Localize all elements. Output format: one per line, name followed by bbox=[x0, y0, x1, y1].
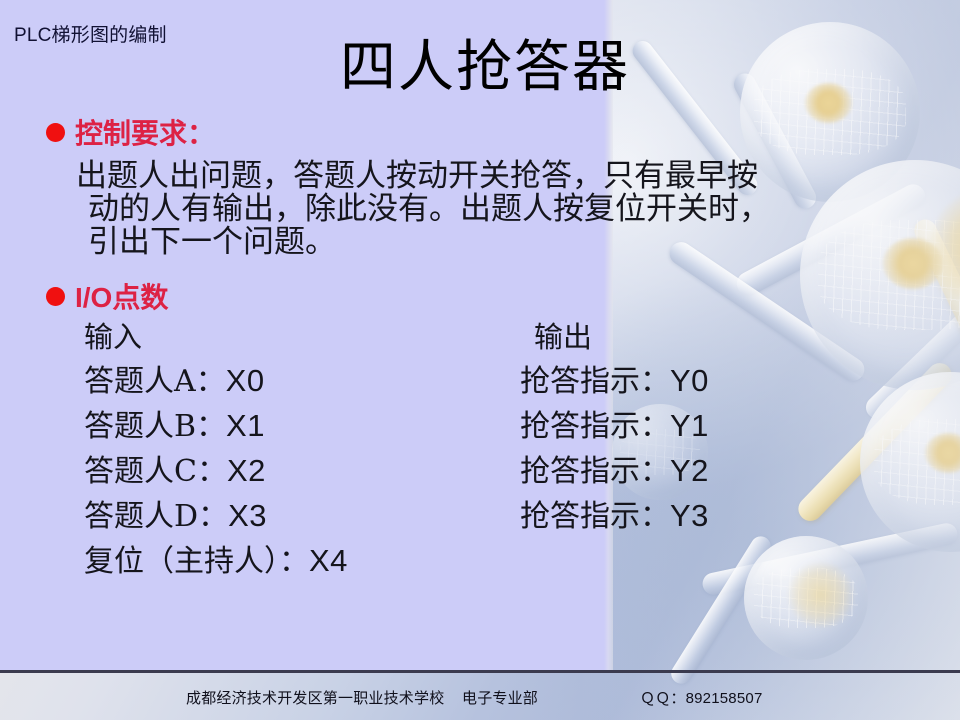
bullet-dot-icon bbox=[46, 123, 65, 142]
io-input-label: 答题人D：X3 bbox=[84, 499, 267, 534]
table-row: 复位（主持人）：X4 bbox=[0, 544, 960, 585]
io-header-input: 输入 bbox=[84, 320, 142, 354]
bullet-io-points: I/O点数 bbox=[46, 276, 168, 316]
table-row: 答题人C：X2 抢答指示：Y2 bbox=[0, 454, 960, 495]
bullet-requirement-label: 控制要求： bbox=[75, 112, 215, 152]
io-output-label: 抢答指示：Y3 bbox=[520, 499, 709, 534]
footer-contact: ＱＱ：892158507 bbox=[640, 687, 762, 708]
table-row: 答题人A：X0 抢答指示：Y0 bbox=[0, 364, 960, 405]
slide-title: 四人抢答器 bbox=[340, 40, 630, 96]
table-row: 答题人D：X3 抢答指示：Y3 bbox=[0, 499, 960, 540]
requirement-line-1: 出题人出问题，答题人按动开关抢答，只有最早按 bbox=[76, 160, 956, 193]
requirement-line-3: 引出下一个问题。 bbox=[88, 226, 956, 259]
slide-kicker: PLC梯形图的编制 bbox=[14, 20, 167, 47]
io-header-row: 输入 输出 bbox=[0, 320, 960, 361]
requirement-line-2: 动的人有输出，除此没有。出题人按复位开关时， bbox=[88, 193, 956, 226]
footer-school: 成都经济技术开发区第一职业技术学校 bbox=[186, 687, 444, 708]
io-output-label: 抢答指示：Y2 bbox=[520, 454, 709, 489]
slide-root: PLC梯形图的编制 四人抢答器 控制要求： 出题人出问题，答题人按动开关抢答，只… bbox=[0, 0, 960, 720]
bullet-io-points-label: I/O点数 bbox=[75, 276, 168, 316]
io-input-label: 答题人B：X1 bbox=[84, 409, 265, 444]
bullet-io-points-cjk: 点数 bbox=[112, 281, 168, 314]
io-output-label: 抢答指示：Y1 bbox=[520, 409, 709, 444]
bullet-dot-icon bbox=[46, 287, 65, 306]
table-row: 答题人B：X1 抢答指示：Y1 bbox=[0, 409, 960, 450]
io-header-output: 输出 bbox=[534, 320, 592, 354]
io-output-label: 抢答指示：Y0 bbox=[520, 364, 709, 399]
requirement-paragraph: 出题人出问题，答题人按动开关抢答，只有最早按 动的人有输出，除此没有。出题人按复… bbox=[76, 160, 956, 259]
io-input-label: 复位（主持人）：X4 bbox=[84, 544, 348, 579]
bullet-requirement: 控制要求： bbox=[46, 112, 215, 152]
footer-department: 电子专业部 bbox=[462, 687, 538, 708]
bullet-io-points-latin: I/O bbox=[75, 282, 112, 313]
footer: 成都经济技术开发区第一职业技术学校 电子专业部 ＱＱ：892158507 bbox=[0, 673, 960, 720]
io-input-label: 答题人A：X0 bbox=[84, 364, 265, 399]
io-input-label: 答题人C：X2 bbox=[84, 454, 266, 489]
io-table: 输入 输出 答题人A：X0 抢答指示：Y0 答题人B：X1 抢答指示：Y1 答题… bbox=[0, 320, 960, 590]
